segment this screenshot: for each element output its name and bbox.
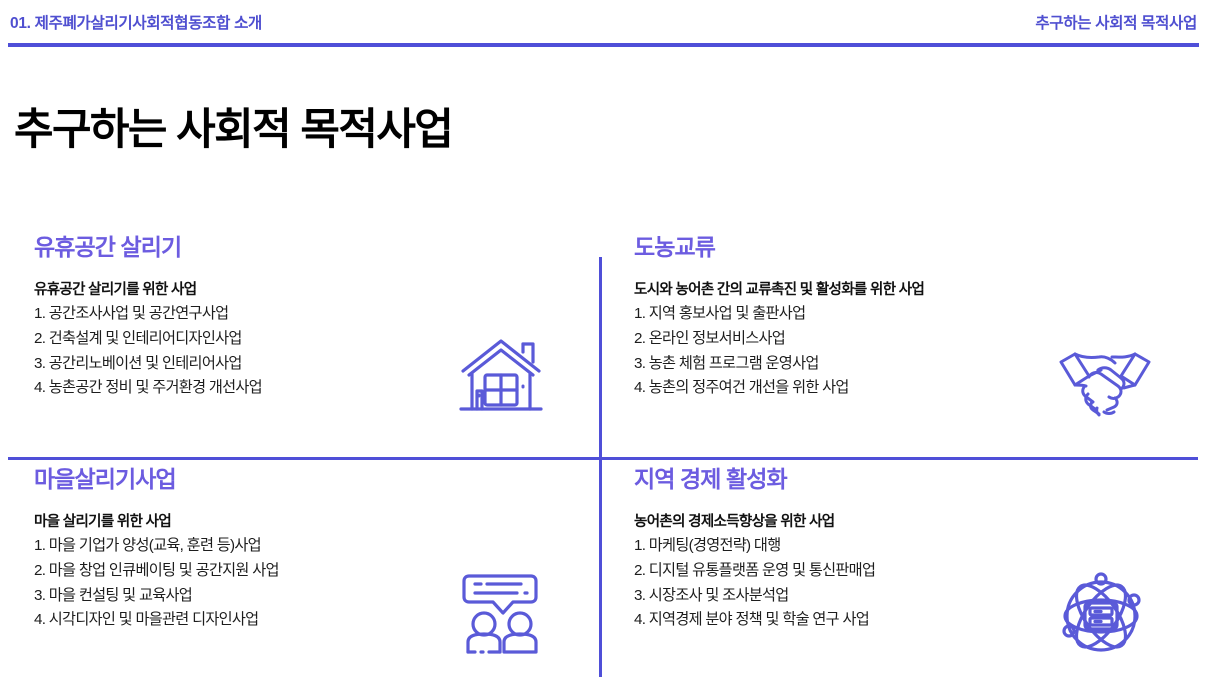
handshake-icon — [1055, 336, 1155, 418]
slide-root: 01. 제주폐가살리기사회적협동조합 소개 추구하는 사회적 목적사업 추구하는… — [0, 0, 1207, 677]
quadrant-title: 마을살리기사업 — [34, 468, 604, 491]
page-title: 추구하는 사회적 목적사업 — [14, 108, 452, 153]
quadrant-idle-space-revival: 유휴공간 살리기 유휴공간 살리기를 위한 사업 1. 공간조사사업 및 공간연… — [0, 228, 604, 452]
header-topic-label: 추구하는 사회적 목적사업 — [1035, 16, 1197, 32]
quadrant-title: 유휴공간 살리기 — [34, 236, 604, 259]
slide-header: 01. 제주폐가살리기사회적협동조합 소개 추구하는 사회적 목적사업 — [0, 0, 1207, 48]
list-item: 1. 공간조사사업 및 공간연구사업 — [34, 302, 604, 327]
atom-server-icon — [1055, 570, 1147, 662]
quadrant-urban-rural-exchange: 도농교류 도시와 농어촌 간의 교류촉진 및 활성화를 위한 사업 1. 지역 … — [603, 228, 1207, 452]
header-divider-rule — [8, 43, 1199, 47]
quadrant-grid: 유휴공간 살리기 유휴공간 살리기를 위한 사업 1. 공간조사사업 및 공간연… — [0, 228, 1207, 677]
list-item: 1. 마을 기업가 양성(교육, 훈련 등)사업 — [34, 534, 604, 559]
quadrant-subtitle: 유휴공간 살리기를 위한 사업 — [34, 279, 604, 301]
quadrant-subtitle: 도시와 농어촌 간의 교류촉진 및 활성화를 위한 사업 — [634, 279, 1207, 301]
quadrant-title: 지역 경제 활성화 — [634, 468, 1207, 491]
quadrant-subtitle: 농어촌의 경제소득향상을 위한 사업 — [634, 511, 1207, 533]
quadrant-title: 도농교류 — [634, 236, 1207, 259]
people-chat-icon — [457, 566, 549, 658]
quadrant-village-revival: 마을살리기사업 마을 살리기를 위한 사업 1. 마을 기업가 양성(교육, 훈… — [0, 460, 604, 677]
quadrant-local-economy: 지역 경제 활성화 농어촌의 경제소득향상을 위한 사업 1. 마케팅(경영전략… — [603, 460, 1207, 677]
quadrant-subtitle: 마을 살리기를 위한 사업 — [34, 511, 604, 533]
header-section-label: 01. 제주폐가살리기사회적협동조합 소개 — [10, 16, 262, 32]
list-item: 1. 지역 홍보사업 및 출판사업 — [634, 302, 1207, 327]
list-item: 1. 마케팅(경영전략) 대행 — [634, 534, 1207, 559]
house-icon — [455, 331, 547, 423]
